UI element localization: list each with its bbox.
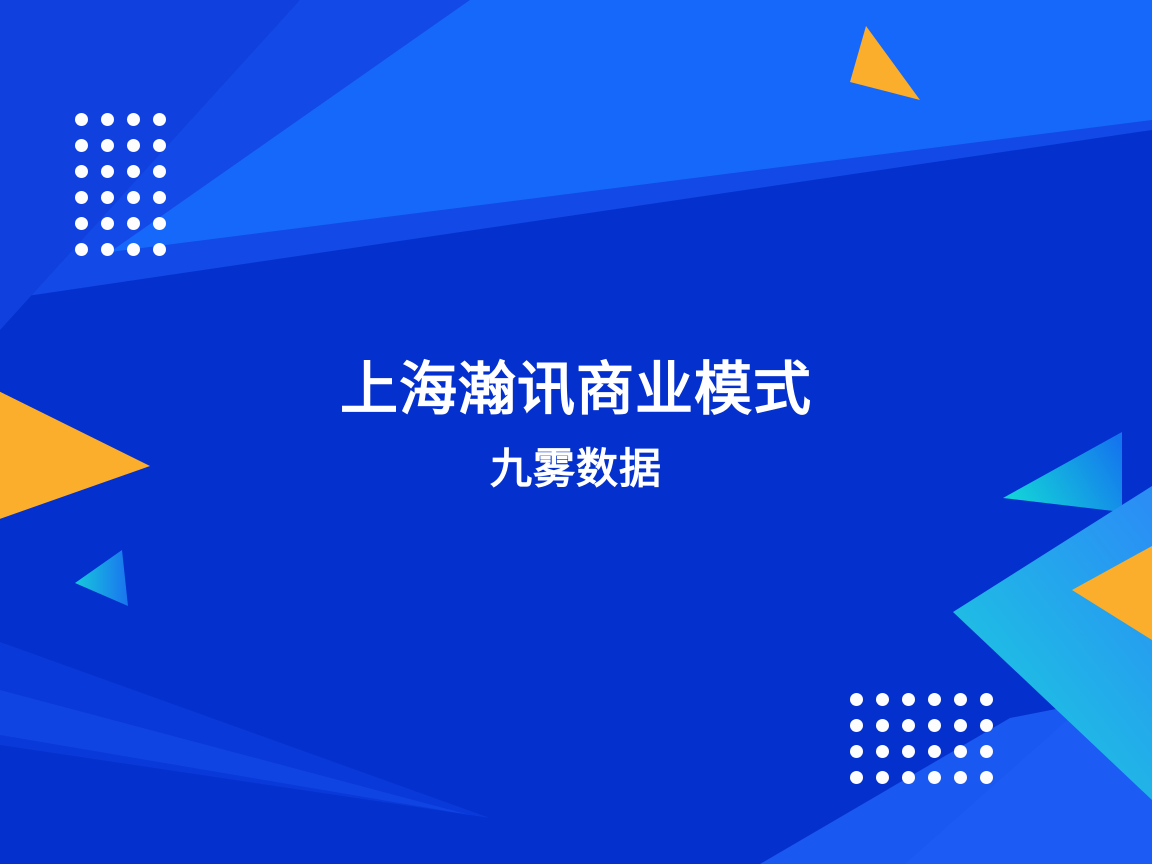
dot [876,771,889,784]
dot [153,139,166,152]
dot [127,191,140,204]
dot [980,719,993,732]
dot [876,693,889,706]
dot [928,719,941,732]
dot [928,771,941,784]
dot [127,113,140,126]
dot [980,745,993,758]
dot [954,719,967,732]
dot [127,217,140,230]
dot [75,191,88,204]
dot [127,165,140,178]
dot [153,217,166,230]
dot [75,139,88,152]
dot [902,771,915,784]
dot [954,693,967,706]
dot [850,719,863,732]
dot [850,693,863,706]
dot [954,771,967,784]
slide-canvas: 上海瀚讯商业模式 九雾数据 [0,0,1152,864]
dot-grid-top-left [75,113,166,256]
dot [902,745,915,758]
dot [101,113,114,126]
dot [928,745,941,758]
title-block: 上海瀚讯商业模式 九雾数据 [0,352,1152,494]
dot [980,693,993,706]
dot [75,113,88,126]
dot [928,693,941,706]
dot [75,165,88,178]
dot [876,745,889,758]
dot [850,745,863,758]
slide-subtitle: 九雾数据 [0,444,1152,494]
dot [127,243,140,256]
dot [902,693,915,706]
dot [75,243,88,256]
slide-title: 上海瀚讯商业模式 [0,352,1152,426]
dot [954,745,967,758]
dot [980,771,993,784]
dot [153,113,166,126]
dot [101,243,114,256]
dot [101,139,114,152]
dot [153,191,166,204]
dot-grid-bottom-right [850,693,993,784]
dot [101,191,114,204]
dot [850,771,863,784]
dot [876,719,889,732]
dot [101,165,114,178]
dot [153,165,166,178]
dot [75,217,88,230]
dot [153,243,166,256]
dot [902,719,915,732]
dot [101,217,114,230]
dot [127,139,140,152]
